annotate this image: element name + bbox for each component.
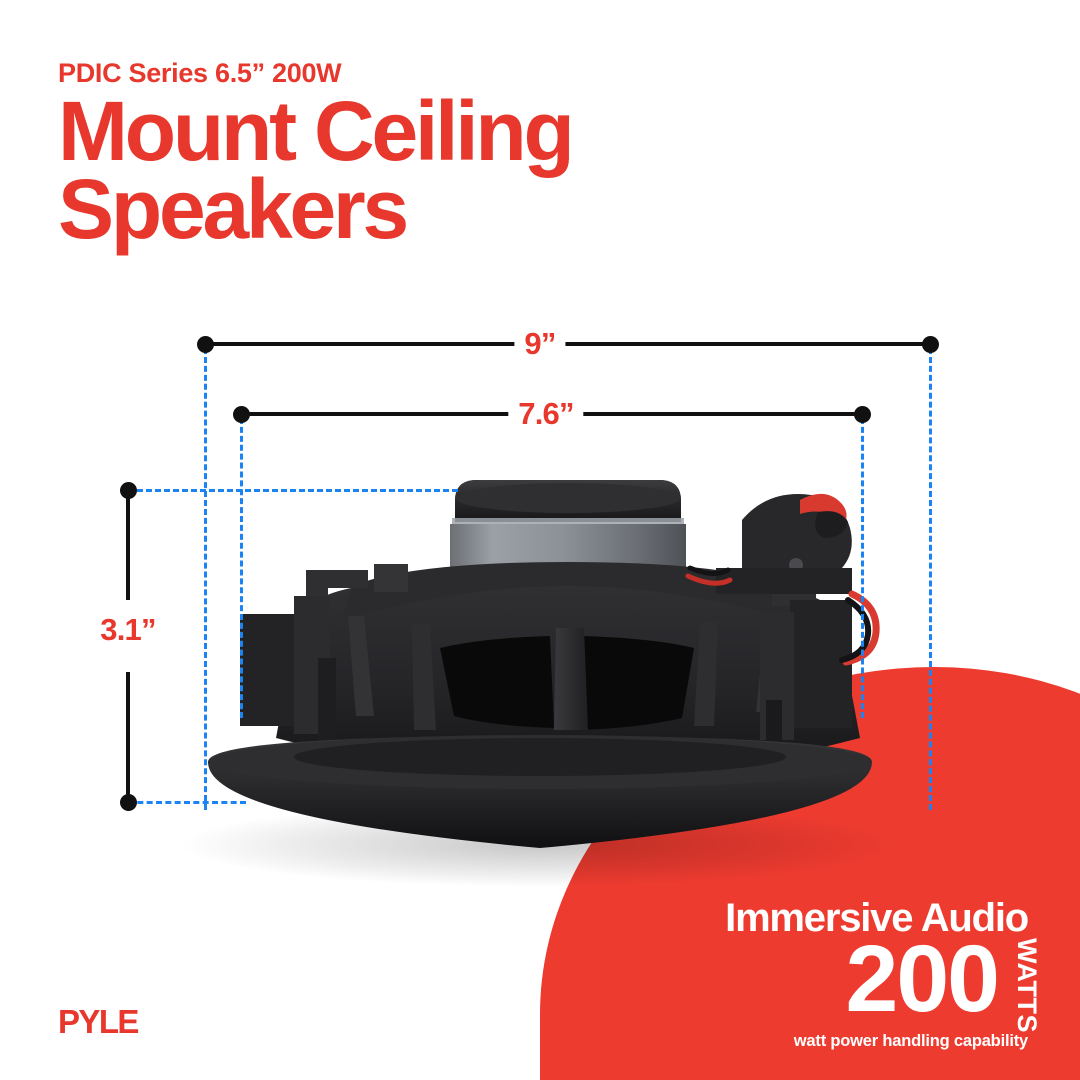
dim-dot-bottom: [120, 794, 137, 811]
dim-dot-right: [922, 336, 939, 353]
pyle-logo: PYLE: [58, 1003, 138, 1041]
dim-label-9in: 9”: [514, 326, 565, 362]
basket-window-right: [578, 636, 694, 730]
guide-right-inner: [861, 418, 864, 718]
basket-window-left: [440, 636, 554, 728]
dim-dot-left: [233, 406, 250, 423]
guide-bottom-depth: [128, 801, 246, 804]
page-title-line-2: Speakers: [58, 170, 572, 248]
power-watts-unit: WATTS: [1011, 938, 1042, 1033]
dim-label-76in: 7.6”: [508, 396, 583, 432]
guide-left-inner: [240, 418, 243, 718]
dim-dot-top: [120, 482, 137, 499]
guide-top-depth: [128, 489, 458, 492]
page-title: Mount Ceiling Speakers: [58, 92, 572, 248]
dim-line-31in-lower: [126, 672, 130, 802]
dim-line-31in-upper: [126, 490, 130, 600]
banner-caption: watt power handling capability: [794, 1032, 1028, 1051]
dim-line-9in: [205, 342, 930, 346]
power-watts-number: 200: [845, 932, 998, 1027]
dim-dot-right: [854, 406, 871, 423]
guide-left-outer: [204, 348, 207, 810]
dim-dot-left: [197, 336, 214, 353]
infographic-canvas: PDIC Series 6.5” 200W Mount Ceiling Spea…: [0, 0, 1080, 1080]
power-banner: Immersive Audio 200 WATTS watt power han…: [600, 880, 1070, 1070]
dim-label-31in: 3.1”: [90, 612, 165, 648]
guide-right-outer: [929, 348, 932, 810]
mounting-clamp-right: [760, 578, 852, 744]
